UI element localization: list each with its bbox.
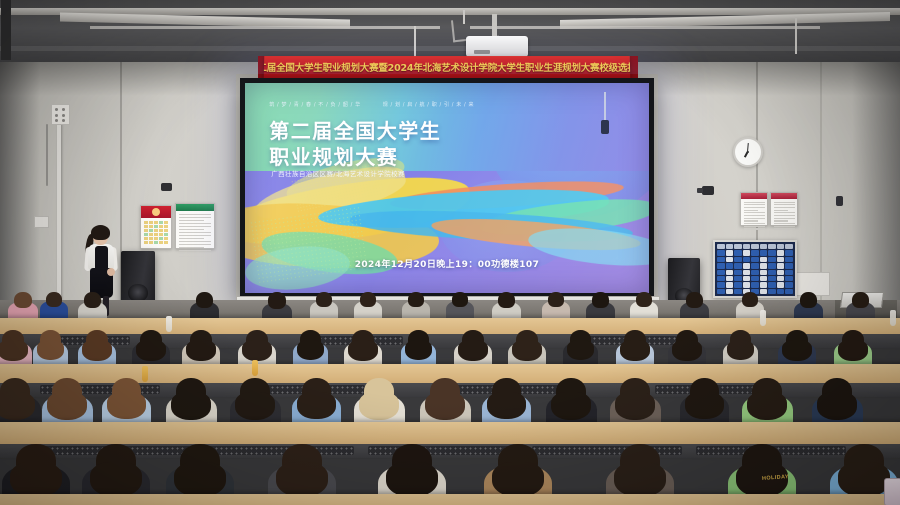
- audience-person-head: [498, 292, 515, 308]
- audience-person-head: [316, 292, 332, 307]
- audience-person-hair: [171, 392, 211, 420]
- wall-corner-shadow-left: [0, 62, 40, 312]
- water-bottle: [142, 366, 148, 382]
- audience-person-hair: [10, 462, 63, 498]
- seating-chart-cell: [726, 276, 734, 281]
- audience-person-hair: [685, 392, 723, 419]
- seating-chart-cell: [777, 244, 785, 249]
- audience-person-hair: [727, 340, 755, 360]
- water-bottle: [252, 360, 258, 376]
- seating-chart-cell: [777, 270, 785, 275]
- audience-person-hair: [0, 340, 28, 361]
- audience-person-hair: [359, 392, 399, 420]
- seating-chart-cell: [777, 263, 785, 268]
- slide-subtitle: 广西壮族自治区区赛/北海艺术设计学院校赛: [271, 168, 405, 178]
- seating-chart-cell: [785, 257, 793, 262]
- audience-person-head: [268, 292, 286, 309]
- security-camera-icon: [161, 183, 172, 191]
- audience-person-hair: [620, 340, 649, 361]
- audience-person-hair: [615, 392, 655, 420]
- audience-person-hair: [276, 462, 329, 498]
- audience-person-hair: [487, 392, 525, 419]
- seating-chart-cell: [768, 276, 776, 281]
- wall-sensor-icon: [836, 196, 843, 206]
- green-header-poster: [175, 203, 215, 249]
- audience-person-hair: [37, 340, 65, 360]
- wall-corner-shadow-right: [852, 62, 900, 312]
- seating-chart-cell: [717, 276, 725, 281]
- audience-person-hair: [567, 340, 595, 360]
- seating-chart-cell: [734, 263, 742, 268]
- seating-chart-cell: [760, 276, 768, 281]
- security-camera-icon: [702, 186, 714, 195]
- seating-chart-cell: [785, 276, 793, 281]
- audience-person-head: [636, 292, 652, 307]
- seating-chart-cell: [768, 270, 776, 275]
- seating-chart-cell: [751, 257, 759, 262]
- seating-chart-cell: [717, 244, 725, 249]
- presenter-hair: [91, 225, 110, 240]
- seating-chart-cell: [743, 250, 751, 255]
- audience-person-hair: [817, 392, 857, 420]
- seating-chart-cell: [743, 270, 751, 275]
- audience-person-hair: [136, 340, 165, 361]
- audience-person-hair: [512, 340, 541, 361]
- ceiling-drop-wire: [795, 18, 797, 54]
- seating-chart-cell: [751, 244, 759, 249]
- seating-chart-cell: [743, 263, 751, 268]
- audience-person-hair: [186, 340, 215, 361]
- audience-person-hair: [174, 462, 227, 498]
- seating-chart-cell: [760, 263, 768, 268]
- seating-chart-cell: [734, 270, 742, 275]
- seating-chart-cell: [751, 276, 759, 281]
- seating-chart-cell: [768, 263, 776, 268]
- seating-chart-cell: [717, 250, 725, 255]
- seating-chart-cell: [743, 244, 751, 249]
- audience-person-head: [686, 292, 703, 308]
- event-banner: 第二届全国大学生职业规划大赛暨2024年北海艺术设计学院大学生职业生涯规划大赛校…: [264, 56, 631, 78]
- audience-person-head: [742, 292, 758, 307]
- seating-chart-cell: [777, 250, 785, 255]
- seating-chart-cell: [726, 244, 734, 249]
- desk-vent-panel: [368, 446, 518, 455]
- wall-conduit: [57, 110, 61, 305]
- seating-chart-cell: [777, 276, 785, 281]
- ceiling-beam: [0, 46, 900, 51]
- seating-chart-cell: [768, 250, 776, 255]
- seating-chart-cell: [726, 263, 734, 268]
- seating-chart-cell: [743, 276, 751, 281]
- smartphone: [884, 478, 900, 505]
- emblem-icon: [152, 208, 160, 216]
- audience-person-hair: [782, 340, 811, 361]
- projector-mount: [492, 14, 497, 36]
- seating-chart-cell: [726, 257, 734, 262]
- audience-person-hair: [297, 340, 325, 360]
- audience-person-hair: [747, 392, 787, 420]
- red-notice-poster: [140, 205, 172, 249]
- audience-person-head: [14, 292, 32, 308]
- audience-person-hair: [838, 462, 891, 498]
- audience-person-hair: [47, 392, 87, 420]
- audience-person-hair: [82, 340, 111, 361]
- audience-person-hair: [672, 340, 701, 361]
- seating-chart-cell: [785, 270, 793, 275]
- audience-person-hair: [107, 392, 145, 419]
- audience-person-head: [452, 292, 468, 307]
- wall-clock: [733, 137, 763, 167]
- seating-chart-cell: [734, 257, 742, 262]
- seating-chart-cell: [726, 270, 734, 275]
- seating-chart-cell: [785, 263, 793, 268]
- audience-person-hair: [348, 340, 377, 361]
- seating-chart-cell: [734, 276, 742, 281]
- audience-person-hair: [458, 340, 487, 361]
- notice-poster: [740, 192, 768, 226]
- desk-vent-panel: [532, 446, 682, 455]
- slide-tagline-right: 规 / 划 / 启 / 航 / 职 / 引 / 未 / 来: [383, 101, 474, 108]
- slide-tagline: 筑 / 梦 / 青 / 春 / 不 / 负 / 韶 / 华 规 / 划 / 启 …: [269, 101, 511, 108]
- audience-person-head: [360, 292, 376, 307]
- audience-person-hair: [386, 462, 439, 498]
- seating-chart-cell: [751, 263, 759, 268]
- water-bottle: [890, 310, 896, 326]
- slide-tagline-left: 筑 / 梦 / 青 / 春 / 不 / 负 / 韶 / 华: [269, 101, 360, 108]
- audience-area: HOLIDAY: [0, 282, 900, 505]
- lecture-desk: [0, 494, 900, 505]
- audience-person-hair: [90, 462, 143, 498]
- ceiling-rail: [90, 26, 440, 29]
- banner-end-cap: [630, 56, 638, 78]
- notice-poster: [770, 192, 798, 226]
- seating-chart-cell: [734, 250, 742, 255]
- seating-chart-cell: [777, 257, 785, 262]
- projection-screen: 筑 / 梦 / 青 / 春 / 不 / 负 / 韶 / 华 规 / 划 / 启 …: [240, 78, 654, 298]
- water-bottle: [166, 316, 172, 332]
- slide-title-line2: 职业规划大赛: [269, 141, 398, 170]
- audience-person-head: [196, 292, 213, 308]
- seating-chart-cell: [768, 244, 776, 249]
- audience-person-hair: [297, 392, 335, 419]
- audience-person-hair: [614, 462, 667, 498]
- conduit-junction-box: [51, 104, 70, 125]
- audience-person-hair: [838, 340, 867, 361]
- water-bottle: [760, 310, 766, 326]
- audience-person-hair: [492, 462, 545, 498]
- seating-chart-cell: [717, 257, 725, 262]
- slide-title-line1: 第二届全国大学生: [269, 115, 441, 144]
- clock-center-pin: [747, 151, 749, 153]
- seating-chart-cell: [726, 250, 734, 255]
- seating-chart-cell: [760, 250, 768, 255]
- audience-person-hair: [405, 340, 433, 360]
- audience-person-head: [852, 292, 869, 308]
- seating-chart-cell: [760, 244, 768, 249]
- seating-chart-cell: [751, 270, 759, 275]
- audience-person-hair: [242, 340, 271, 361]
- seating-chart-cell: [785, 250, 793, 255]
- seating-chart-cell: [760, 257, 768, 262]
- seating-chart-cell: [760, 270, 768, 275]
- audience-person-head: [800, 292, 817, 308]
- audience-person-head: [592, 292, 609, 308]
- seating-chart-cell: [717, 263, 725, 268]
- presenter-hand: [107, 268, 115, 276]
- lecture-hall-photo: 第二届全国大学生职业规划大赛暨2024年北海艺术设计学院大学生职业生涯规划大赛校…: [0, 0, 900, 505]
- slide-canvas: 筑 / 梦 / 青 / 春 / 不 / 负 / 韶 / 华 规 / 划 / 启 …: [245, 83, 649, 293]
- slide-date-line: 2024年12月20日晚上19：00功德楼107: [245, 257, 649, 270]
- seating-chart-cell: [768, 257, 776, 262]
- audience-person-hair: [425, 392, 465, 420]
- audience-person-head: [46, 292, 62, 307]
- seating-chart-cell: [751, 250, 759, 255]
- hanging-cable: [46, 124, 48, 186]
- wall-outlet: [34, 216, 49, 228]
- audience-person-hair: [0, 392, 35, 420]
- audience-person-head: [84, 292, 101, 308]
- audience-person-head: [548, 292, 564, 307]
- audience-person-head: [408, 292, 424, 307]
- audience-person-hair: [235, 392, 275, 420]
- event-banner-text: 第二届全国大学生职业规划大赛暨2024年北海艺术设计学院大学生职业生涯规划大赛校…: [264, 60, 631, 74]
- seating-chart-cell: [743, 257, 751, 262]
- desk-vent-panel: [204, 446, 354, 455]
- seating-chart-cell: [785, 244, 793, 249]
- audience-person-hair: [551, 392, 591, 420]
- seating-chart-cell: [734, 244, 742, 249]
- ceiling-pipe: [1, 0, 11, 60]
- ceiling-projector: [466, 36, 528, 57]
- hanging-pointer-stick: [604, 92, 606, 122]
- ceiling-rail: [470, 26, 820, 29]
- seating-chart-cell: [717, 270, 725, 275]
